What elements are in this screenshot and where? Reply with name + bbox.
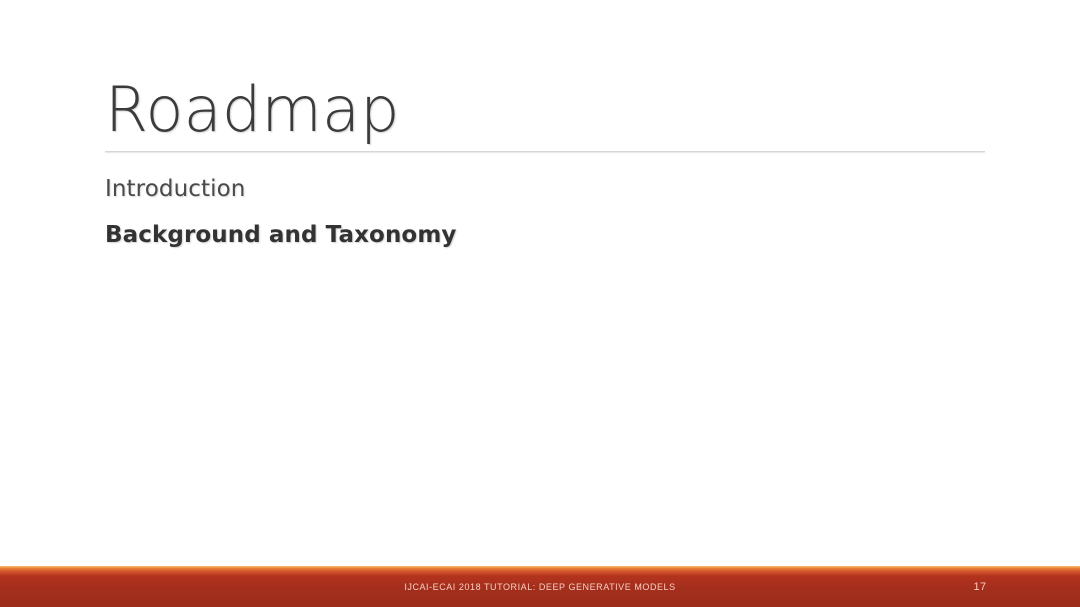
outline-item-background-and-taxonomy: Background and Taxonomy — [105, 212, 985, 258]
slide-page-number: 17 — [880, 566, 1080, 607]
presentation-slide: Roadmap Introduction Background and Taxo… — [0, 0, 1080, 607]
outline-item-introduction: Introduction — [105, 166, 985, 212]
outline-list: Introduction Background and Taxonomy — [105, 166, 985, 258]
title-divider — [105, 151, 985, 152]
title-block: Roadmap — [105, 74, 987, 146]
page-title: Roadmap — [105, 74, 987, 146]
footer-bar: IJCAI-ECAI 2018 TUTORIAL: DEEP GENERATIV… — [0, 566, 1080, 607]
